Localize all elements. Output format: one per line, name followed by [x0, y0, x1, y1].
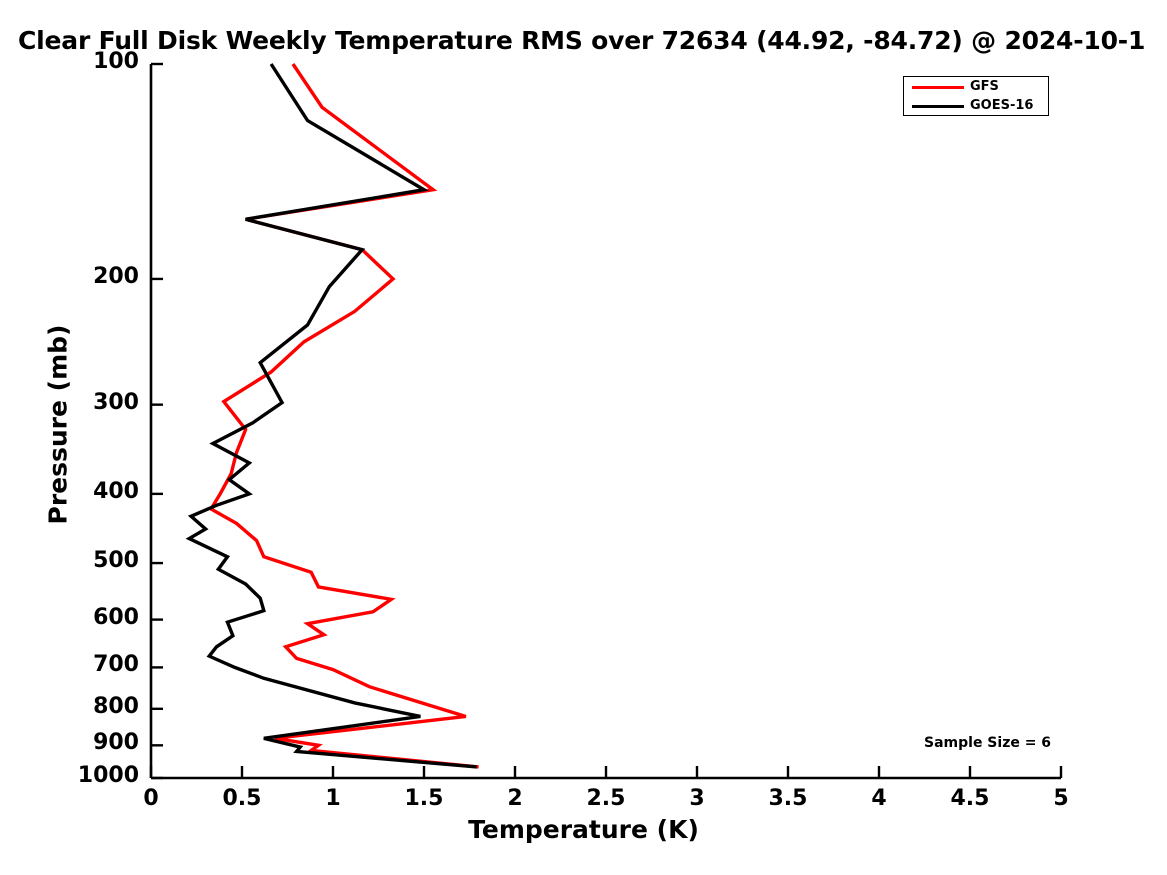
x-tick-label: 0 [111, 786, 191, 811]
x-tick-label: 0.5 [202, 786, 282, 811]
legend-label-gfs: GFS [970, 79, 999, 94]
y-tick-label: 100 [19, 49, 139, 74]
legend-item-gfs: GFS [904, 77, 1050, 97]
y-tick-label: 400 [19, 479, 139, 504]
x-tick-label: 5 [1021, 786, 1101, 811]
plot-background [151, 64, 1061, 778]
x-tick-label: 2 [475, 786, 555, 811]
x-tick-label: 4 [839, 786, 919, 811]
x-tick-label: 2.5 [566, 786, 646, 811]
legend-item-goes16: GOES-16 [904, 96, 1050, 116]
y-tick-label: 900 [19, 730, 139, 755]
x-tick-label: 3 [657, 786, 737, 811]
legend-swatch-goes16 [912, 105, 964, 108]
chart-figure: Clear Full Disk Weekly Temperature RMS o… [0, 0, 1167, 875]
y-tick-label: 1000 [19, 763, 139, 788]
x-axis-label: Temperature (K) [0, 815, 1167, 844]
y-tick-label: 600 [19, 605, 139, 630]
legend-swatch-gfs [912, 86, 964, 89]
x-tick-label: 3.5 [748, 786, 828, 811]
legend-label-goes16: GOES-16 [970, 98, 1033, 113]
chart-legend: GFS GOES-16 [903, 76, 1049, 116]
x-tick-label: 1.5 [384, 786, 464, 811]
y-tick-label: 800 [19, 694, 139, 719]
y-tick-label: 700 [19, 652, 139, 677]
y-tick-label: 300 [19, 390, 139, 415]
y-tick-label: 200 [19, 264, 139, 289]
x-tick-label: 4.5 [930, 786, 1010, 811]
sample-size-annotation: Sample Size = 6 [924, 735, 1051, 751]
y-tick-label: 500 [19, 548, 139, 573]
x-tick-label: 1 [293, 786, 373, 811]
